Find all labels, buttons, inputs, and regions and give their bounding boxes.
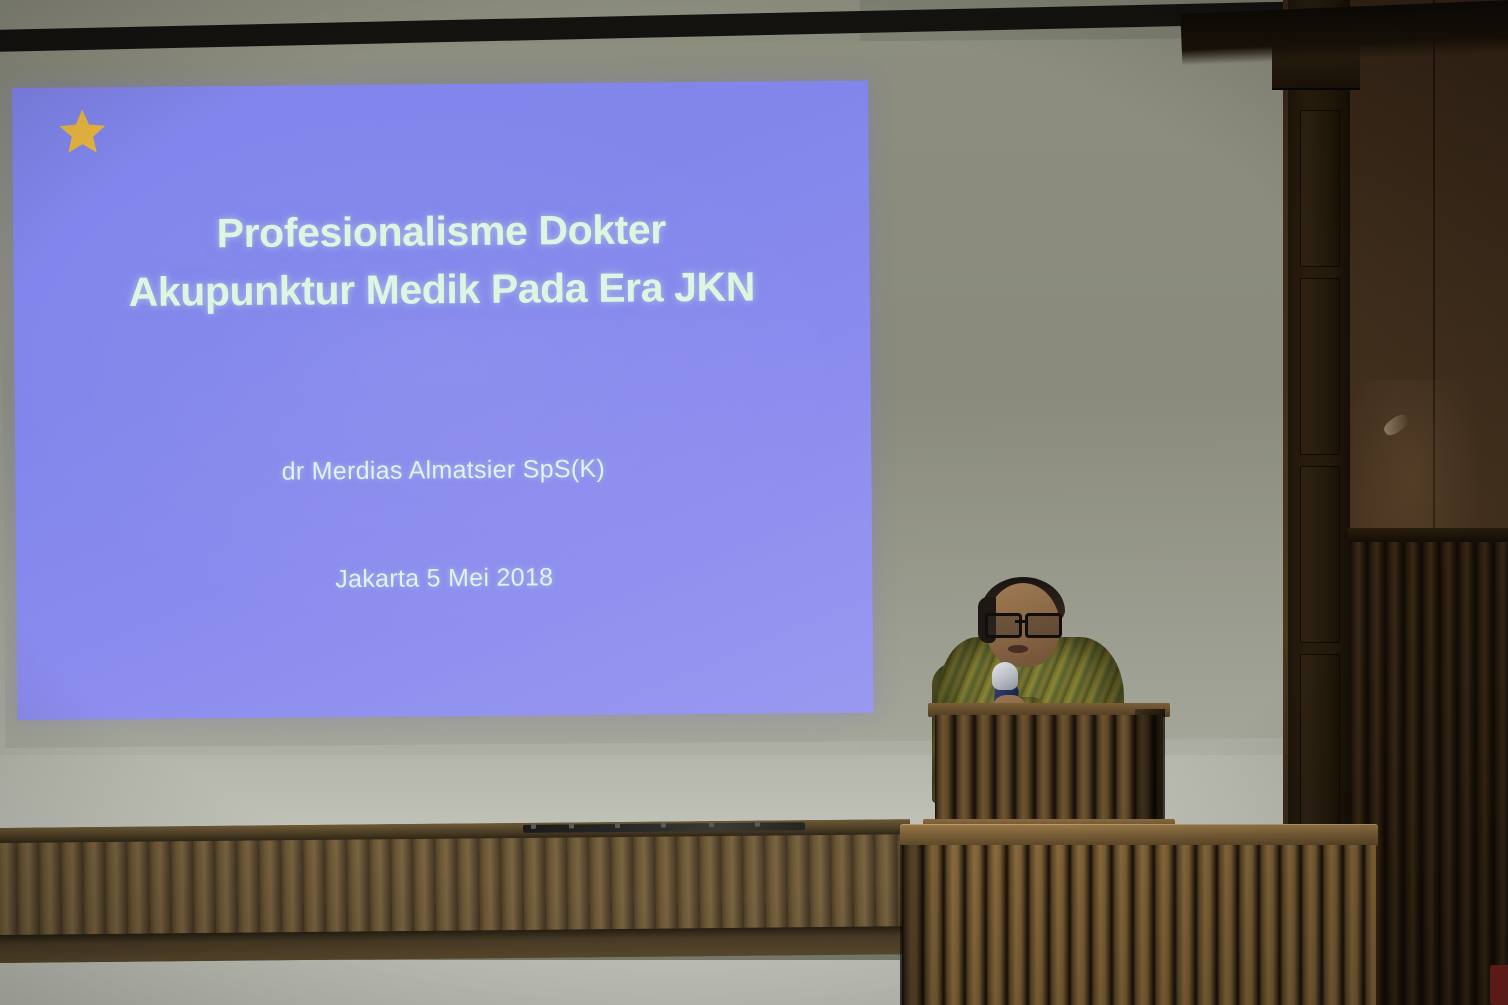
red-object: [1490, 965, 1508, 1005]
podium-front-slats: [935, 715, 1163, 821]
desk-front-slats: [902, 845, 1376, 1005]
presentation-photo-scene: Profesionalisme Dokter Akupunktur Medik …: [0, 0, 1508, 1005]
column-panel-3: [1300, 466, 1340, 643]
slide-title-line-1: Profesionalisme Dokter: [13, 199, 869, 265]
column-panel-4: [1300, 654, 1340, 831]
eyeglasses-icon: [985, 613, 1063, 633]
slide-title-line-2: Akupunktur Medik Pada Era JKN: [14, 257, 870, 323]
slide-light-glow: [12, 81, 873, 720]
column-panel-1: [1300, 110, 1340, 267]
speaker-mouth: [1008, 645, 1028, 653]
star-icon: [56, 105, 108, 157]
microphone-head: [992, 662, 1018, 690]
wainscot-panel: [0, 819, 911, 963]
slide-presenter-name: dr Merdias Almatsier SpS(K): [15, 453, 871, 489]
column-panel-2: [1300, 278, 1340, 455]
right-slat-cap-rail: [1348, 528, 1508, 542]
wooden-desk: [900, 824, 1378, 1005]
wooden-podium: [935, 703, 1163, 838]
desk-top-surface: [900, 824, 1378, 846]
projected-slide: Profesionalisme Dokter Akupunktur Medik …: [12, 81, 873, 720]
desk-left-shadow: [900, 845, 940, 1005]
wall-floor-strip: [0, 960, 900, 1005]
slide-title: Profesionalisme Dokter Akupunktur Medik …: [13, 199, 870, 323]
podium-side-shadow: [1135, 709, 1165, 821]
wainscot-bottom-rail: [0, 926, 911, 963]
slide-place-date: Jakarta 5 Mei 2018: [16, 561, 872, 597]
